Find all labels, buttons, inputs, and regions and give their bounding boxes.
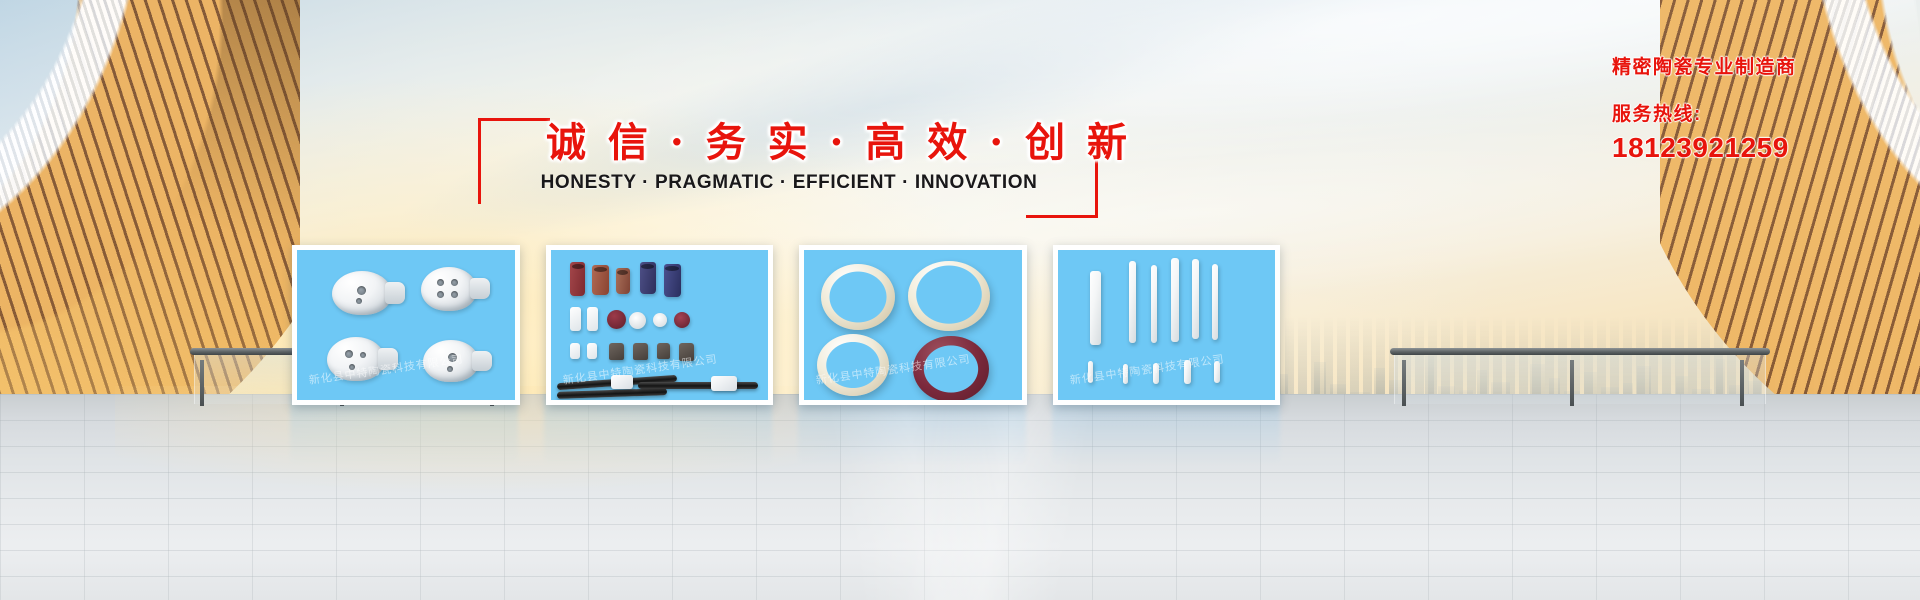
ceramic-seal-ring-red [913,336,989,402]
ceramic-chip [570,307,581,331]
contact-block: 精密陶瓷专业制造商 服务热线: 18123921259 [1612,52,1852,164]
ceramic-rod-short [1153,363,1159,384]
ceramic-ring [607,310,626,329]
ceramic-disc [653,313,667,327]
ceramic-rod [1129,261,1136,343]
terrace-floor [0,394,1920,600]
railing-post [1570,360,1574,406]
wire-assembly [638,382,758,389]
metal-clamp [679,343,694,361]
metal-clamp [633,343,648,360]
ceramic-seal-ring [908,261,990,331]
ceramic-rod [1090,271,1101,345]
cap-hole [437,279,444,286]
insulator-cap [421,267,477,311]
railing-post [1740,360,1744,406]
cap-body [327,337,385,381]
cap-hole [451,279,458,286]
insulator-cap [327,337,385,381]
cap-hole [349,364,355,370]
ceramic-rod-short [1123,364,1128,384]
slogan-english: HONESTY · PRAGMATIC · EFFICIENT · INNOVA… [540,172,1038,194]
metal-clamp [657,343,670,359]
insulator-cap [423,340,479,382]
ceramic-rod-short [1184,360,1191,384]
ceramic-rod [1192,259,1199,339]
ceramic-tube [570,262,585,296]
ceramic-chip [587,307,598,331]
ceramic-seal-ring [821,264,895,330]
wire-assembly [557,388,667,399]
ceramic-rod-short [1214,361,1220,383]
ceramic-connector [711,376,737,391]
ceramic-rod-short [1088,361,1093,383]
product-panel-row: 新化县中特陶瓷科技有限公司 新化县中特陶瓷 [292,245,1280,405]
cap-hole [447,366,453,372]
cap-body [421,267,477,311]
product-panel-insulator-caps[interactable]: 新化县中特陶瓷科技有限公司 [292,245,520,405]
slogan-chinese: 诚 信 · 务 实 · 高 效 · 创 新 [546,110,1032,168]
cap-body [332,271,392,315]
cap-hole [437,291,444,298]
cap-stem [470,278,490,299]
ceramic-rod [1171,258,1179,342]
ceramic-ring [674,312,690,328]
product-panel-rods[interactable]: 新化县中特陶瓷科技有限公司 [1053,245,1281,405]
hero-banner: 诚 信 · 务 实 · 高 效 · 创 新 HONESTY · PRAGMATI… [0,0,1920,600]
cap-stem [378,348,398,369]
ceramic-seal-ring [817,334,889,396]
cap-hole [356,298,362,304]
ceramic-chip [587,343,597,359]
cap-hole [451,291,458,298]
floor-sun-glow [115,386,1305,536]
ceramic-rod [1151,265,1157,343]
metal-clamp [609,343,624,360]
railing-post [1402,360,1406,406]
cap-stem [385,282,405,303]
company-tagline: 精密陶瓷专业制造商 [1612,52,1852,79]
cap-stem [472,351,492,371]
cap-hole [345,350,353,358]
ceramic-tube [592,265,609,295]
ceramic-rod [1212,264,1218,340]
ceramic-chip [570,343,580,359]
ceramic-connector [611,375,633,389]
ceramic-tube [664,264,681,297]
slogan-block: 诚 信 · 务 实 · 高 效 · 创 新 HONESTY · PRAGMATI… [478,108,1098,204]
product-panel-seal-rings[interactable]: 新化县中特陶瓷科技有限公司 [799,245,1027,405]
ceramic-disc [629,312,646,329]
product-panel-tubes-connectors[interactable]: 新化县中特陶瓷科技有限公司 [546,245,774,405]
cap-hole [448,353,457,362]
hotline-number[interactable]: 18123921259 [1612,132,1852,164]
hotline-label: 服务热线: [1612,99,1852,126]
cap-hole [357,286,366,295]
railing-glass-panel [1394,355,1766,404]
glass-railing-right [1390,348,1770,404]
railing-post [200,360,204,406]
railing-handrail [1390,348,1770,355]
cap-hole [360,352,366,358]
cap-body [423,340,479,382]
ceramic-tube [640,262,656,294]
insulator-cap [332,271,392,315]
ceramic-tube [616,268,630,294]
